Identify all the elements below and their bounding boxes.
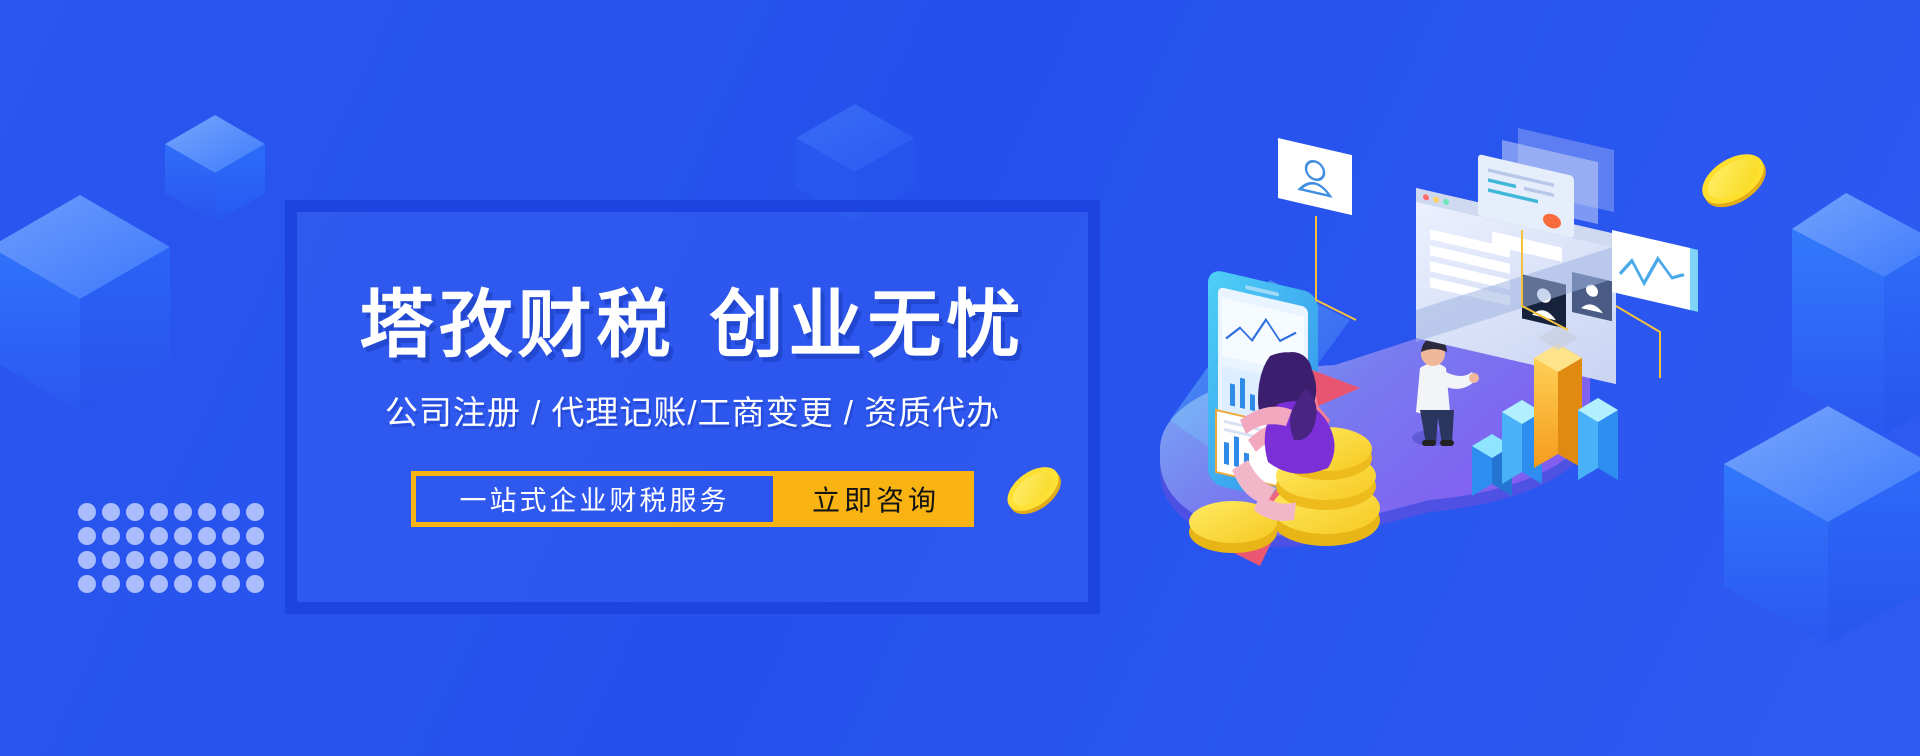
cta-button-row: 一站式企业财税服务 立即咨询: [411, 471, 974, 527]
dot-grid-decoration: [78, 503, 267, 596]
banner-copy-block: 塔孜财税创业无忧 公司注册 / 代理记账/工商变更 / 资质代办 一站式企业财税…: [285, 200, 1100, 614]
hero-illustration: [1120, 120, 1680, 580]
iso-cube-left-large: [0, 185, 180, 415]
headline-part-2: 创业无忧: [710, 283, 1026, 366]
illustration-line-chart-card: [1612, 230, 1698, 312]
illustration-profile-card: [1278, 138, 1352, 215]
iso-cube-upper-left: [160, 110, 270, 225]
promo-banner: 塔孜财税创业无忧 公司注册 / 代理记账/工商变更 / 资质代办 一站式企业财税…: [0, 0, 1920, 756]
consult-now-button[interactable]: 立即咨询: [778, 471, 974, 527]
services-subtitle: 公司注册 / 代理记账/工商变更 / 资质代办: [385, 396, 1000, 429]
page-title: 塔孜财税创业无忧: [360, 288, 1026, 362]
iso-cube-right-lower: [1718, 400, 1920, 650]
one-stop-service-button[interactable]: 一站式企业财税服务: [411, 471, 778, 527]
gold-coin-icon-large: [1694, 140, 1772, 218]
headline-part-1: 塔孜财税: [360, 283, 676, 366]
iso-pillar-right: [1790, 185, 1920, 445]
